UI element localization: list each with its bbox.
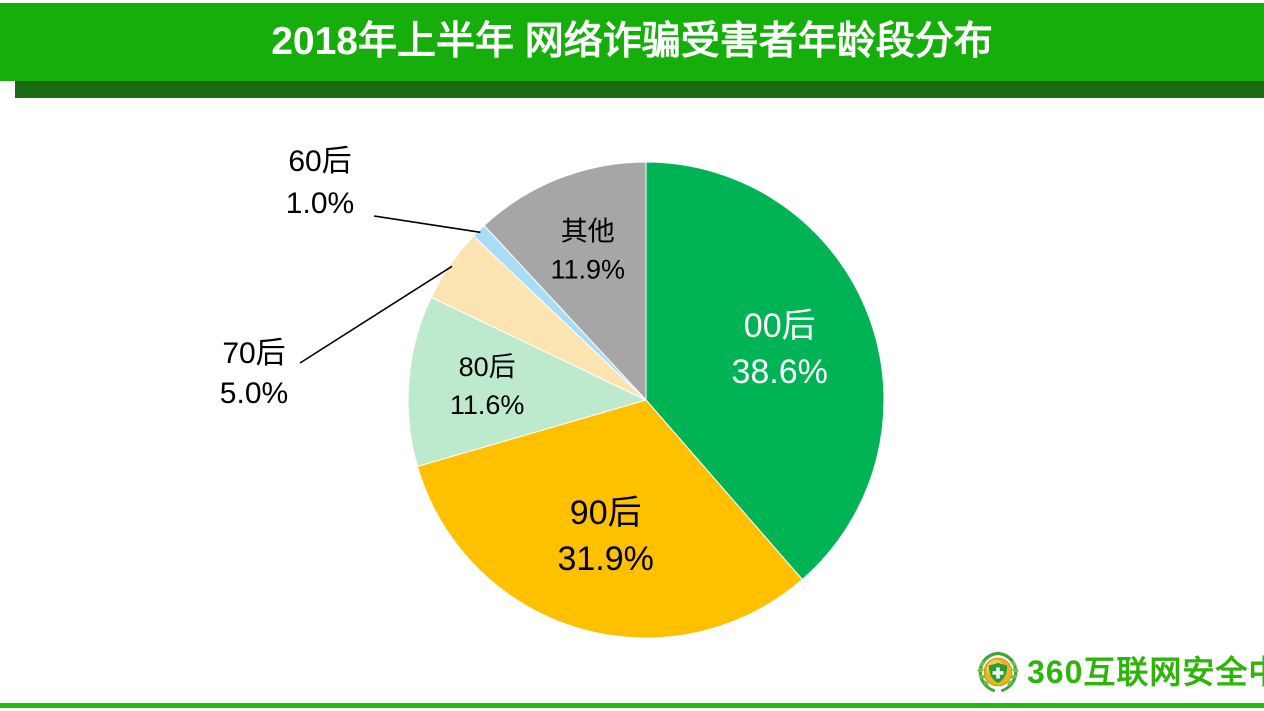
slice-label-name-00后: 00后	[744, 307, 816, 345]
slice-label-name-80后: 80后	[459, 352, 516, 382]
slice-label-name-60后: 60后	[288, 145, 351, 178]
slice-label-pct-70后: 5.0%	[220, 377, 288, 410]
slice-label-name-其他: 其他	[561, 217, 615, 247]
brand-wordmark: 360互联网安全中	[1027, 649, 1264, 695]
slice-label-pct-其他: 11.9%	[551, 255, 626, 285]
slide-root: { "title": { "text": "2018年上半年 网络诈骗受害者年龄…	[0, 0, 1264, 711]
leader-line-60后	[374, 216, 480, 232]
page-title: 2018年上半年 网络诈骗受害者年龄段分布	[0, 3, 1264, 81]
slice-label-name-70后: 70后	[222, 337, 285, 370]
pie-chart-area: 00后38.6%90后31.9%80后11.6%70后5.0%60后1.0%其他…	[0, 98, 1264, 643]
360-shield-laurel-icon	[975, 649, 1021, 695]
slice-label-pct-80后: 11.6%	[450, 390, 525, 420]
slice-label-name-90后: 90后	[570, 494, 642, 532]
title-banner-shadow	[15, 80, 1264, 98]
slice-label-pct-90后: 31.9%	[557, 540, 653, 578]
title-banner: 2018年上半年 网络诈骗受害者年龄段分布	[0, 3, 1264, 81]
slice-label-pct-60后: 1.0%	[286, 187, 354, 220]
slice-label-pct-00后: 38.6%	[731, 353, 827, 391]
pie-chart: 00后38.6%90后31.9%80后11.6%70后5.0%60后1.0%其他…	[0, 98, 1264, 643]
footer-rule	[0, 703, 1264, 708]
brand-logo: 360互联网安全中	[975, 648, 1264, 696]
